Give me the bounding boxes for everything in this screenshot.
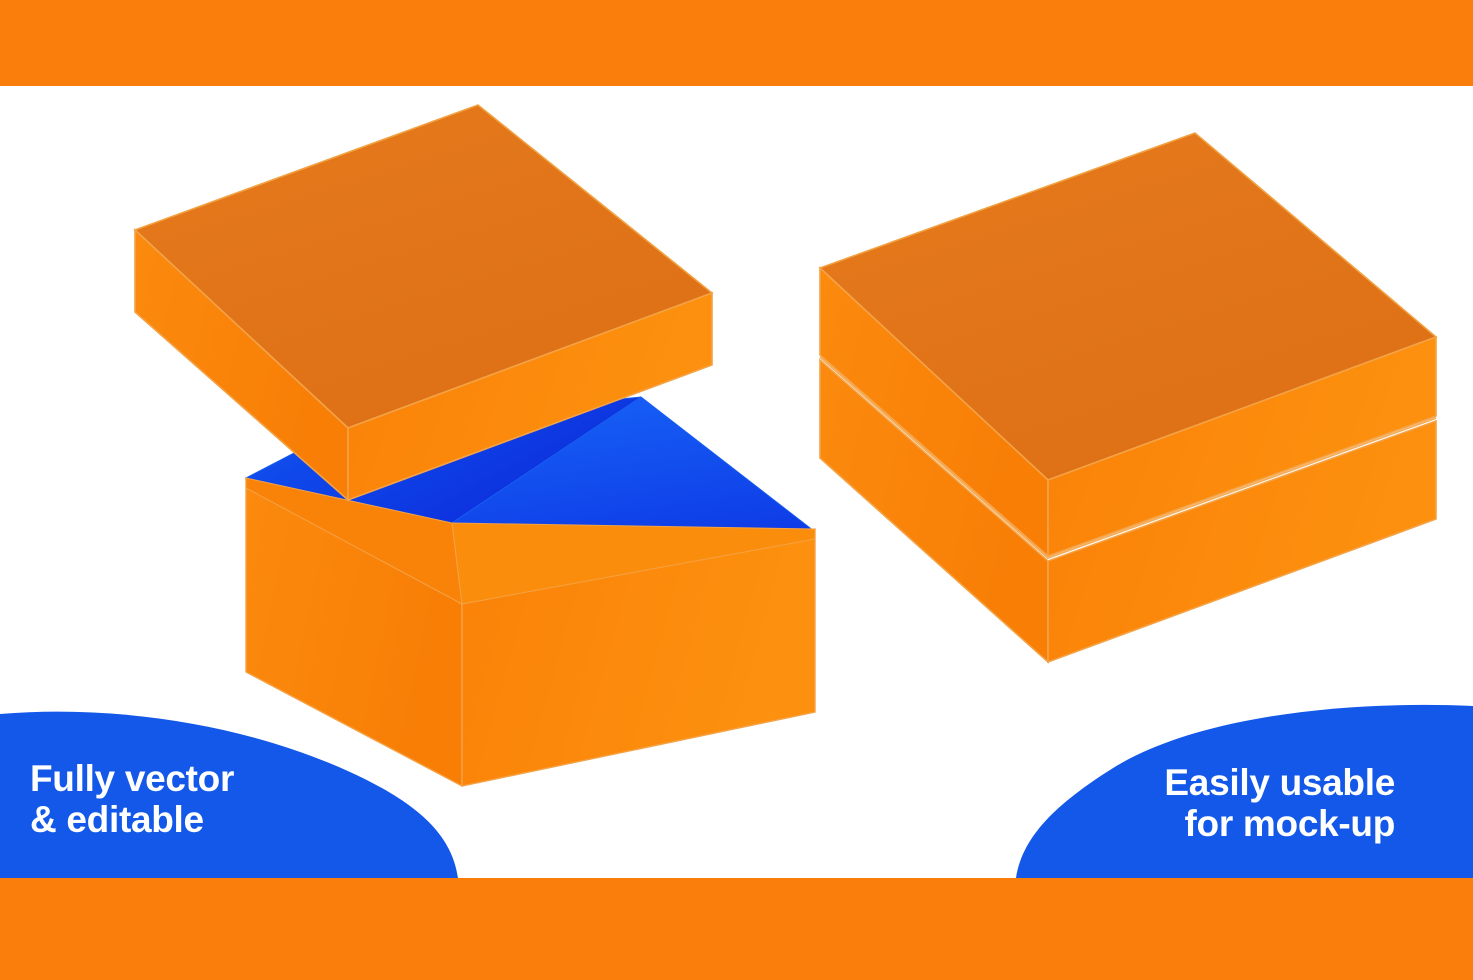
box-illustration-canvas [0,0,1473,980]
closed-box-right [820,133,1436,662]
open-box-left [135,105,815,786]
artboard: Fully vector & editable Easily usable fo… [0,0,1473,980]
easily-usable-badge-shape [1016,705,1473,878]
badges-layer [0,705,1473,878]
